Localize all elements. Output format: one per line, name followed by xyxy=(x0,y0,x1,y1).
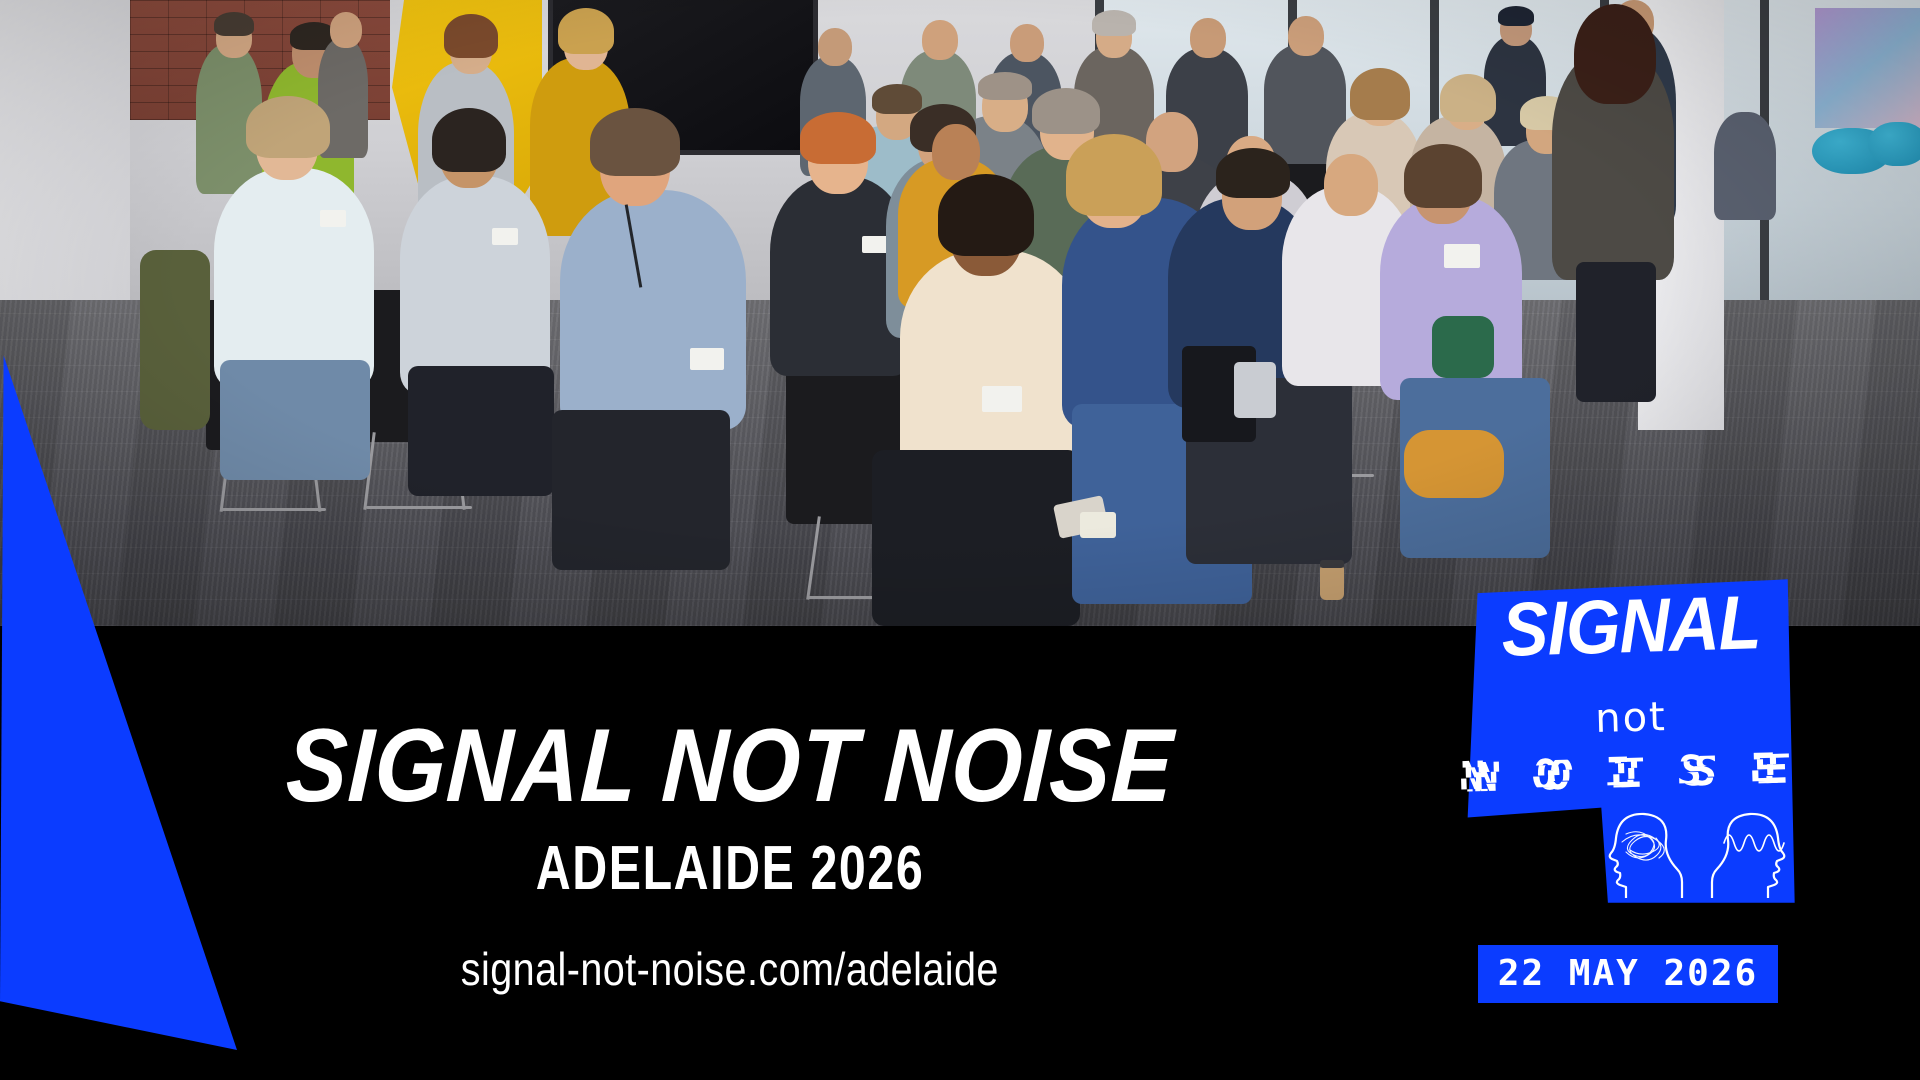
name-badge xyxy=(320,210,346,227)
name-badge xyxy=(690,348,724,370)
attendee-hair xyxy=(214,12,254,36)
laptop xyxy=(1234,362,1276,418)
attendee-hair xyxy=(432,108,506,172)
name-badge xyxy=(982,386,1022,412)
head-profile-right xyxy=(1712,814,1784,898)
two-heads-illustration xyxy=(1608,798,1786,898)
attendee-hair xyxy=(1032,88,1100,134)
attendee-head xyxy=(1288,16,1324,56)
attendee-head xyxy=(1190,18,1226,58)
photo-canvas xyxy=(0,0,1920,626)
attendee-hair xyxy=(1440,74,1496,122)
far-display-screen xyxy=(1815,8,1920,128)
attendee-front xyxy=(900,250,1086,480)
blue-pouf xyxy=(1868,122,1920,166)
jacket-on-chair xyxy=(140,250,210,430)
event-location-year: ADELAIDE 2026 xyxy=(536,838,924,900)
event-url[interactable]: signal-not-noise.com/adelaide xyxy=(461,946,999,992)
event-photo xyxy=(0,0,1920,626)
brand-logo-badge: SIGNAL not N O I S E N O I S E N O I S E… xyxy=(1466,576,1796,906)
name-badge xyxy=(862,236,888,253)
attendee-hair xyxy=(1574,4,1656,104)
attendee xyxy=(400,176,550,394)
attendee-hair xyxy=(444,14,498,58)
logo-word-signal: SIGNAL xyxy=(1478,584,1783,669)
attendee-hair xyxy=(1066,134,1162,216)
chair-bar xyxy=(222,508,326,511)
attendee-hair xyxy=(558,8,614,54)
attendee-head xyxy=(1010,24,1044,62)
event-poster: SIGNAL NOT NOISE ADELAIDE 2026 signal-no… xyxy=(0,0,1920,1080)
attendee-head xyxy=(932,124,980,180)
attendee-hair xyxy=(1350,68,1410,120)
tote-bag xyxy=(1404,430,1504,498)
attendee-head xyxy=(330,12,362,48)
name-badge xyxy=(492,228,518,245)
attendee-hair xyxy=(938,174,1034,256)
attendee-hair xyxy=(800,112,876,164)
page-title: SIGNAL NOT NOISE xyxy=(284,714,1176,818)
attendee-hair xyxy=(1404,144,1482,208)
attendee-hair xyxy=(590,108,680,176)
attendee-head xyxy=(818,28,852,66)
attendee-hair xyxy=(978,72,1032,100)
attendee xyxy=(1714,112,1776,220)
coffee-cup-lid xyxy=(1320,560,1344,568)
attendee-hair xyxy=(1092,10,1136,36)
attendee-head xyxy=(1324,154,1378,216)
attendee-legs xyxy=(872,450,1080,626)
attendee xyxy=(214,168,374,388)
cap-icon xyxy=(1498,6,1534,26)
event-date-badge: 22 MAY 2026 xyxy=(1478,945,1778,1003)
attendee-legs xyxy=(220,360,370,480)
chair-bar xyxy=(366,506,472,509)
tangled-scribble-icon xyxy=(1622,832,1664,860)
attendee-legs xyxy=(552,410,730,570)
attendee-hair xyxy=(246,96,330,158)
attendee-legs xyxy=(408,366,554,496)
green-handbag xyxy=(1432,316,1494,378)
phone xyxy=(1080,512,1116,538)
headline-block: SIGNAL NOT NOISE ADELAIDE 2026 signal-no… xyxy=(0,626,1460,1080)
attendee-hair xyxy=(1216,148,1290,198)
attendee-laughing xyxy=(560,190,746,430)
attendee-hair xyxy=(872,84,922,114)
coffee-cup xyxy=(1320,566,1344,600)
name-badge xyxy=(1444,244,1480,268)
event-date-label: 22 MAY 2026 xyxy=(1498,956,1758,992)
attendee-head xyxy=(922,20,958,60)
sine-wave-icon xyxy=(1724,835,1784,851)
attendee-legs xyxy=(1576,262,1656,402)
